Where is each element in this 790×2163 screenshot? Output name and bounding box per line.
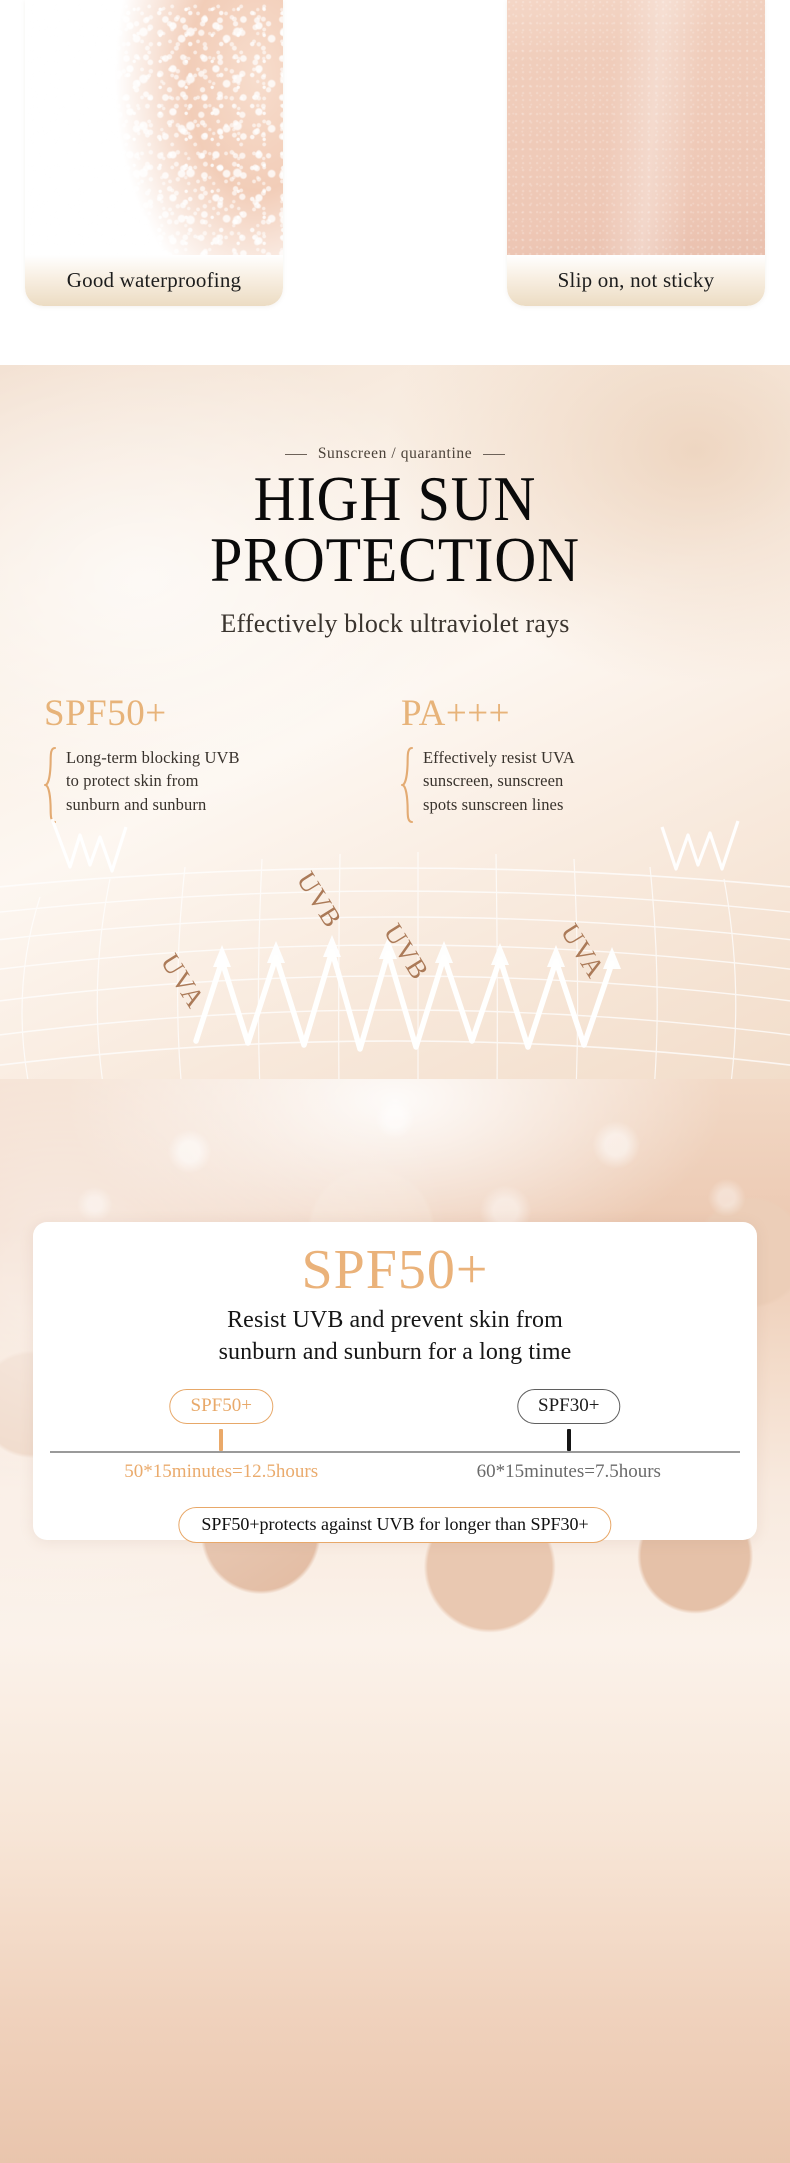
photo-card-waterproofing[interactable]: Good waterproofing <box>25 0 283 306</box>
feature-spf50-line-1: Long-term blocking UVB <box>66 746 240 769</box>
skin-photo-waterproofing <box>25 0 283 255</box>
spf-comparison-card: SPF50+ Resist UVB and prevent skin from … <box>33 1222 757 1540</box>
photo-caption-not-sticky: Slip on, not sticky <box>507 255 765 306</box>
page-title: HIGH SUN PROTECTION <box>32 469 759 591</box>
card-subtitle-line-1: Resist UVB and prevent skin from <box>33 1305 757 1337</box>
card-title: SPF50+ <box>33 1242 757 1299</box>
dash-right-icon <box>483 454 505 455</box>
feature-pa3-line-1: Effectively resist UVA <box>423 746 575 769</box>
feature-spf50-title: SPF50+ <box>44 695 389 732</box>
product-demo-photos: Good waterproofing Slip on, not sticky <box>0 0 790 365</box>
card-subtitle: Resist UVB and prevent skin from sunburn… <box>33 1305 757 1368</box>
card-subtitle-line-2: sunburn and sunburn for a long time <box>33 1337 757 1369</box>
photo-caption-waterproofing: Good waterproofing <box>25 255 283 306</box>
feature-spf50-line-2: to protect skin from <box>66 769 240 792</box>
dash-left-icon <box>285 454 307 455</box>
comparison-pill-spf30[interactable]: SPF30+ <box>517 1389 620 1424</box>
hero-eyebrow: Sunscreen / quarantine <box>0 445 790 463</box>
skin-photo-not-sticky <box>507 0 765 255</box>
comparison-axis-line <box>50 1451 740 1453</box>
comparison-value-spf50: 50*15minutes=12.5hours <box>124 1461 318 1483</box>
page-title-line-2: PROTECTION <box>32 530 759 591</box>
comparison-value-spf30: 60*15minutes=7.5hours <box>477 1461 661 1483</box>
page-title-line-1: HIGH SUN <box>32 469 759 530</box>
uv-ray-illustration: UVA UVB UVB UVA <box>0 801 790 1079</box>
hero-section: Sunscreen / quarantine HIGH SUN PROTECTI… <box>0 365 790 1079</box>
comparison-note: SPF50+protects against UVB for longer th… <box>178 1507 611 1543</box>
comparison-tick-spf30 <box>567 1429 571 1451</box>
photo-card-not-sticky[interactable]: Slip on, not sticky <box>507 0 765 306</box>
feature-pa3-title: PA+++ <box>401 695 746 732</box>
uv-label-uva-right: UVA <box>555 918 611 983</box>
feature-pa3-line-2: sunscreen, sunscreen <box>423 769 575 792</box>
hero-subtitle: Effectively block ultraviolet rays <box>0 609 790 639</box>
comparison-tick-spf50 <box>219 1429 223 1451</box>
comparison-pill-spf50[interactable]: SPF50+ <box>170 1389 273 1424</box>
spf-comparison-chart: SPF50+ SPF30+ 50*15minutes=12.5hours 60*… <box>33 1389 757 1541</box>
uv-label-uva-left: UVA <box>155 948 211 1013</box>
hero-eyebrow-label: Sunscreen / quarantine <box>318 445 472 463</box>
